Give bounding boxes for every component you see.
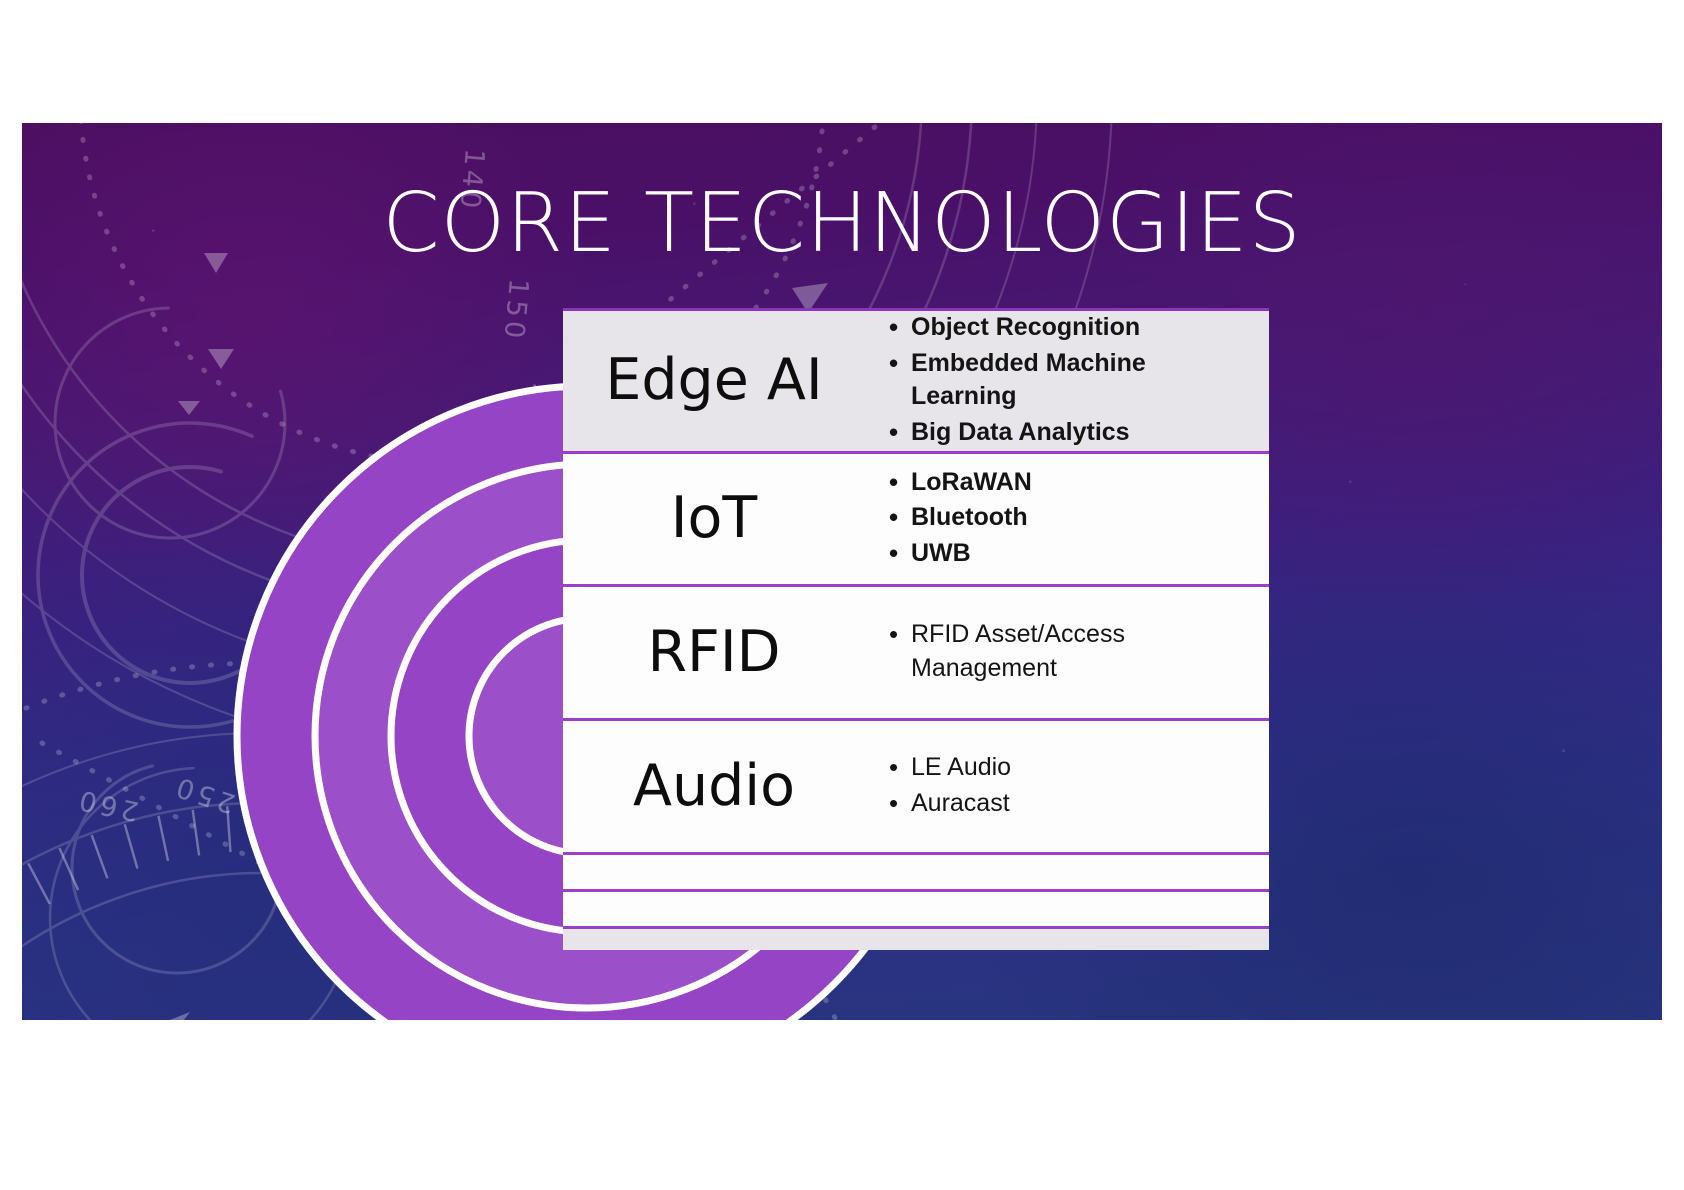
list-item: LE Audio <box>911 751 1251 785</box>
table-cell-tech-name <box>563 891 865 928</box>
table-cell-tech-name: Edge AI <box>563 310 865 453</box>
table-row[interactable]: Edge AI Object Recognition Embedded Mach… <box>563 310 1269 453</box>
table-cell-tech-name: Audio <box>563 720 865 854</box>
table-row-empty[interactable] <box>563 891 1269 928</box>
list-item: LoRaWAN <box>911 466 1251 500</box>
table-cell-features <box>865 891 1269 928</box>
core-technologies-table: Edge AI Object Recognition Embedded Mach… <box>563 308 1269 950</box>
table-row[interactable]: IoT LoRaWAN Bluetooth UWB <box>563 453 1269 586</box>
slide-canvas: 140 150 160 260 250 240 CORE TECHNOLOGIE… <box>22 123 1662 1020</box>
feature-list-audio: LE Audio Auracast <box>865 751 1269 820</box>
table-cell-features: RFID Asset/Access Management <box>865 586 1269 720</box>
list-item: Bluetooth <box>911 501 1251 535</box>
table-cell-features: LE Audio Auracast <box>865 720 1269 854</box>
tech-name-rfid: RFID <box>563 623 865 683</box>
table-cell-features: LoRaWAN Bluetooth UWB <box>865 453 1269 586</box>
table-cell-features <box>865 854 1269 891</box>
tech-name-audio: Audio <box>563 757 865 817</box>
table-footer-cell-left <box>563 928 865 951</box>
page-title: CORE TECHNOLOGIES <box>22 183 1662 265</box>
table-cell-tech-name: IoT <box>563 453 865 586</box>
feature-list-edge-ai: Object Recognition Embedded Machine Lear… <box>865 311 1269 449</box>
list-item: Object Recognition <box>911 311 1251 345</box>
table-cell-tech-name <box>563 854 865 891</box>
tech-name-iot: IoT <box>563 489 865 549</box>
list-item: Big Data Analytics <box>911 416 1251 450</box>
tech-name-edge-ai: Edge AI <box>563 351 865 411</box>
list-item: UWB <box>911 537 1251 571</box>
table-row[interactable]: RFID RFID Asset/Access Management <box>563 586 1269 720</box>
list-item: Embedded Machine Learning <box>911 347 1251 414</box>
table-footer-band <box>563 928 1269 951</box>
feature-list-rfid: RFID Asset/Access Management <box>865 618 1269 685</box>
table-cell-features: Object Recognition Embedded Machine Lear… <box>865 310 1269 453</box>
table-row-empty[interactable] <box>563 854 1269 891</box>
table-cell-tech-name: RFID <box>563 586 865 720</box>
feature-list-iot: LoRaWAN Bluetooth UWB <box>865 466 1269 571</box>
list-item: RFID Asset/Access Management <box>911 618 1251 685</box>
table-row[interactable]: Audio LE Audio Auracast <box>563 720 1269 854</box>
table-footer-cell-right <box>865 928 1269 951</box>
list-item: Auracast <box>911 787 1251 821</box>
